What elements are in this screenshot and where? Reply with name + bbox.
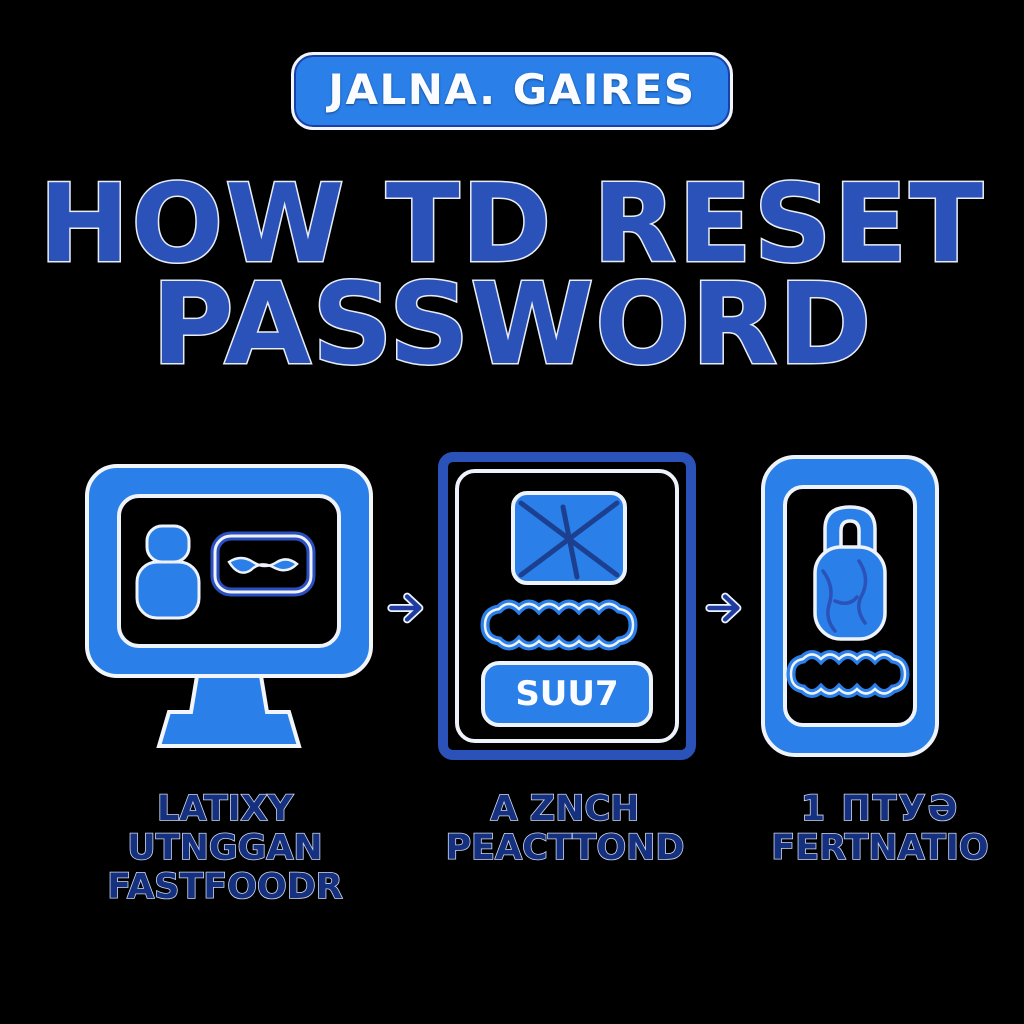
caption-step-1: LATIXY UTNGGAN FASTFOODR xyxy=(60,790,390,908)
badge: JALNA. GAIRES xyxy=(291,52,732,130)
poster-root: JALNA. GAIRES HOW TD RESET PASSWORD xyxy=(0,0,1024,1024)
arrow-right-icon xyxy=(379,586,437,630)
caption-step-3: 1 ПТУӘ FERTNATIO xyxy=(730,790,1024,868)
step-2[interactable]: SUU7 xyxy=(437,451,697,766)
captions-row: LATIXY UTNGGAN FASTFOODR A ZNCH PEACTTON… xyxy=(0,790,1024,970)
caption-3-line-1: 1 ПТУӘ xyxy=(730,790,1024,829)
submit-button-label: SUU7 xyxy=(515,674,618,714)
user-avatar-icon xyxy=(137,526,199,618)
email-card-icon: SUU7 xyxy=(437,451,697,766)
page-title: HOW TD RESET PASSWORD xyxy=(0,175,1024,377)
caption-1-line-1: LATIXY xyxy=(60,790,390,829)
caption-3-line-2: FERTNATIO xyxy=(730,829,1024,868)
arrow-right-icon xyxy=(697,586,755,630)
steps-row: SUU7 xyxy=(0,448,1024,768)
badge-label: JALNA. GAIRES xyxy=(328,69,695,111)
monitor-login-icon xyxy=(79,456,379,761)
caption-2-line-1: A ZNCH xyxy=(420,790,710,829)
envelope-x-icon xyxy=(513,493,625,583)
caption-1-line-2: UTNGGAN xyxy=(60,829,390,868)
caption-1-line-3: FASTFOODR xyxy=(60,868,390,907)
step-1[interactable] xyxy=(79,456,379,761)
caption-step-2: A ZNCH PEACTTOND xyxy=(420,790,710,868)
step-3[interactable] xyxy=(755,451,945,766)
phone-lock-icon xyxy=(755,451,945,766)
caption-2-line-2: PEACTTOND xyxy=(420,829,710,868)
title-line-2: PASSWORD xyxy=(0,274,1024,377)
badge-container: JALNA. GAIRES xyxy=(0,52,1024,130)
monitor-stand xyxy=(159,676,299,746)
submit-button[interactable]: SUU7 xyxy=(483,663,651,725)
